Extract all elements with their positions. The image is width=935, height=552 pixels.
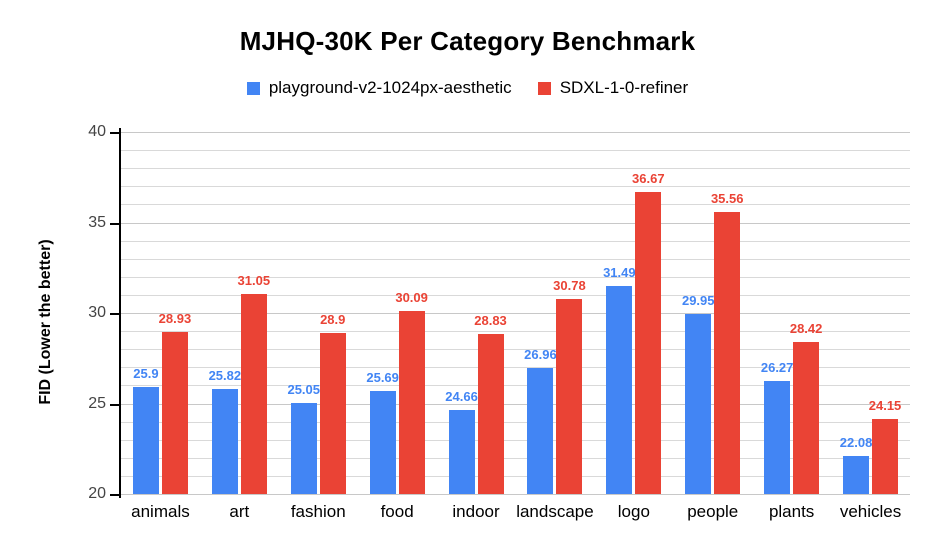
bar-group: 31.4936.67	[594, 132, 673, 494]
bar-group: 29.9535.56	[673, 132, 752, 494]
bar-group: 26.9630.78	[516, 132, 595, 494]
bar-value-label: 31.05	[224, 273, 284, 288]
x-axis-category-labels: animalsartfashionfoodindoorlandscapelogo…	[121, 502, 910, 532]
bar[interactable]	[764, 381, 790, 494]
y-axis-tick-mark	[110, 223, 120, 225]
bar[interactable]	[872, 419, 898, 494]
bar[interactable]	[162, 332, 188, 494]
legend-item-series-2[interactable]: SDXL-1-0-refiner	[538, 78, 689, 98]
x-axis-category-label: logo	[594, 502, 673, 522]
gridline-major	[121, 494, 910, 495]
bar-group: 22.0824.15	[831, 132, 910, 494]
y-axis-title: FID (Lower the better)	[37, 172, 55, 472]
y-axis-tick-label: 40	[70, 123, 106, 141]
bar-group: 25.0528.9	[279, 132, 358, 494]
legend-label-series-1: playground-v2-1024px-aesthetic	[269, 78, 512, 98]
bar[interactable]	[320, 333, 346, 494]
bar[interactable]	[478, 334, 504, 494]
chart-title: MJHQ-30K Per Category Benchmark	[0, 26, 935, 57]
y-axis-tick-labels: 4035302520	[60, 132, 106, 494]
x-axis-category-label: fashion	[279, 502, 358, 522]
bar-group: 25.8231.05	[200, 132, 279, 494]
y-axis-tick-label: 25	[70, 395, 106, 413]
y-axis-tick-mark	[110, 313, 120, 315]
bar-value-label: 28.83	[461, 313, 521, 328]
x-axis-category-label: vehicles	[831, 502, 910, 522]
bar-group: 25.928.93	[121, 132, 200, 494]
legend-item-series-1[interactable]: playground-v2-1024px-aesthetic	[247, 78, 512, 98]
bar-value-label: 28.9	[303, 312, 363, 327]
y-axis-tick-mark	[110, 494, 120, 496]
bar[interactable]	[793, 342, 819, 494]
bar-value-label: 36.67	[618, 171, 678, 186]
bar[interactable]	[527, 368, 553, 494]
bar-value-label: 35.56	[697, 191, 757, 206]
bar[interactable]	[714, 212, 740, 494]
bar[interactable]	[449, 410, 475, 494]
bar[interactable]	[241, 294, 267, 494]
y-axis-tick-mark	[110, 404, 120, 406]
bar-value-label: 30.09	[382, 290, 442, 305]
x-axis-category-label: art	[200, 502, 279, 522]
x-axis-category-label: food	[358, 502, 437, 522]
x-axis-category-label: indoor	[437, 502, 516, 522]
legend-swatch-icon	[538, 82, 551, 95]
y-axis-tick-mark	[110, 132, 120, 134]
x-axis-category-label: plants	[752, 502, 831, 522]
y-axis-tick-label: 35	[70, 214, 106, 232]
bar-value-label: 28.93	[145, 311, 205, 326]
bar-value-label: 30.78	[539, 278, 599, 293]
bar-value-label: 24.15	[855, 398, 915, 413]
bar-group: 24.6628.83	[437, 132, 516, 494]
bar[interactable]	[399, 311, 425, 494]
bar[interactable]	[291, 403, 317, 494]
bar[interactable]	[606, 286, 632, 494]
x-axis-category-label: animals	[121, 502, 200, 522]
legend-swatch-icon	[247, 82, 260, 95]
bar-group: 26.2728.42	[752, 132, 831, 494]
bar[interactable]	[556, 299, 582, 494]
y-axis-tick-label: 30	[70, 304, 106, 322]
bar[interactable]	[370, 391, 396, 494]
bar[interactable]	[212, 389, 238, 494]
legend-label-series-2: SDXL-1-0-refiner	[560, 78, 689, 98]
bar-group: 25.6930.09	[358, 132, 437, 494]
bar[interactable]	[685, 314, 711, 494]
bar-value-label: 28.42	[776, 321, 836, 336]
y-axis-tick-label: 20	[70, 485, 106, 503]
bars-layer: 25.928.9325.8231.0525.0528.925.6930.0924…	[121, 132, 910, 494]
x-axis-category-label: people	[673, 502, 752, 522]
x-axis-category-label: landscape	[516, 502, 595, 522]
chart-legend: playground-v2-1024px-aesthetic SDXL-1-0-…	[0, 78, 935, 98]
bar-chart: MJHQ-30K Per Category Benchmark playgrou…	[0, 0, 935, 552]
bar[interactable]	[133, 387, 159, 494]
bar[interactable]	[843, 456, 869, 494]
bar[interactable]	[635, 192, 661, 494]
